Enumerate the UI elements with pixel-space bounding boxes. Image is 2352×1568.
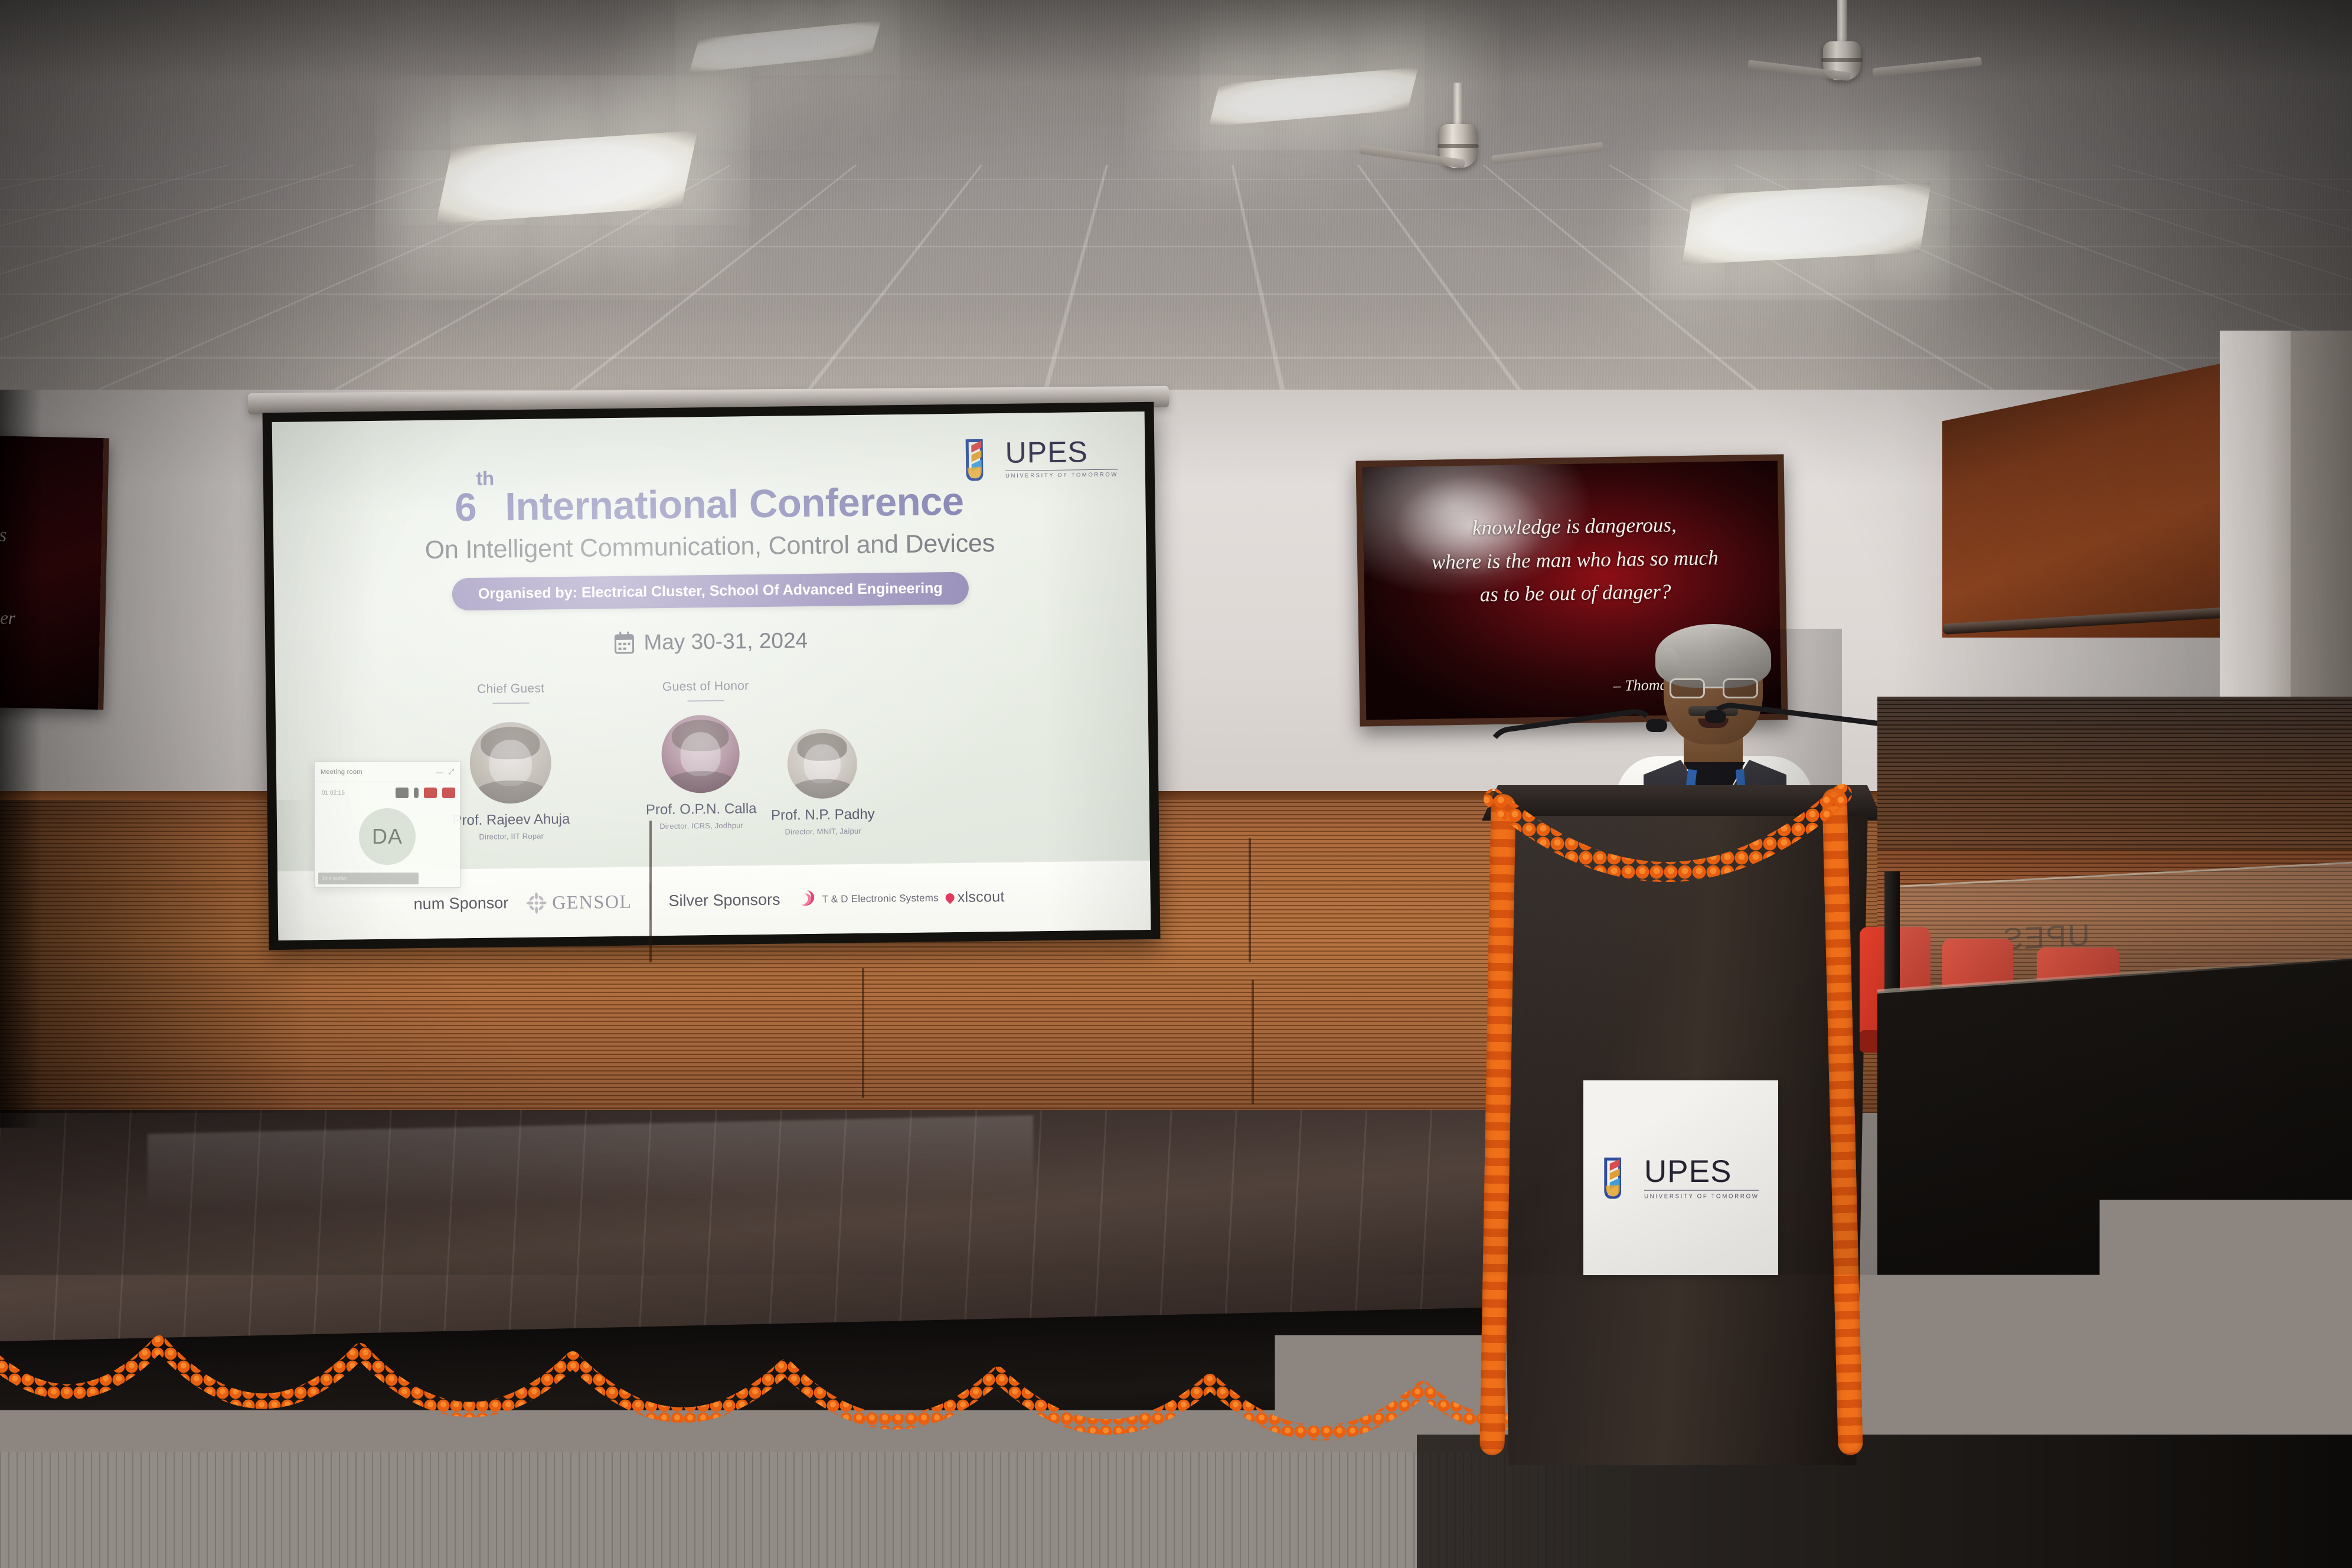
portrait-shoulders (667, 771, 736, 793)
guest-portrait (661, 714, 740, 793)
fan-ring (1821, 58, 1863, 62)
mic-capsule (1705, 710, 1726, 723)
slide-organiser-pill: Organised by: Electrical Cluster, School… (452, 572, 969, 611)
expand-icon[interactable]: ⤢ (448, 767, 454, 776)
ceiling (0, 0, 2352, 407)
share-screen-icon[interactable] (424, 788, 437, 798)
podium-garland-swag (1494, 794, 1842, 948)
avatar: DA (359, 808, 416, 865)
slide-subtitle: On Intelligent Communication, Control an… (273, 527, 1146, 567)
conference-hall-photo: thers n Fuller (0, 0, 2352, 1568)
booth-upper-wood-wall (1877, 697, 2352, 862)
guest-name: Prof. Rajeev Ahuja (443, 811, 579, 829)
upes-shield-icon (963, 438, 999, 481)
podium-logo-wordmark-block: UPES UNIVERSITY OF TOMORROW (1644, 1157, 1759, 1199)
minimize-icon[interactable]: — (436, 768, 443, 776)
portrait-face (804, 744, 841, 783)
wood-panel-seam (1249, 838, 1251, 962)
quote-text: knowledge is dangerous, where is the man… (1363, 461, 1780, 614)
slide-date-row: May 30-31, 2024 (614, 628, 808, 655)
left-wall-shadow (0, 390, 41, 1128)
slide-title: 6th International Conference (273, 476, 1146, 533)
wood-wall-left-shadow (0, 800, 307, 1113)
platinum-sponsor-label: num Sponsor (413, 894, 508, 913)
podium-logo-inner: UPES UNIVERSITY OF TOMORROW (1602, 1157, 1759, 1199)
guest-title: Director, MNIT, Jaipur (755, 826, 891, 837)
video-conference-popup[interactable]: Meeting room — ⤢ 01:02:15 DA Join audio (314, 762, 460, 888)
guest-card: Prof. N.P. Padhy Director, MNIT, Jaipur (754, 728, 891, 836)
popup-toolbar[interactable]: 01:02:15 (315, 782, 460, 803)
wood-panel-seam (649, 821, 652, 962)
fan-ring (1438, 144, 1479, 148)
portrait-face (680, 732, 721, 776)
portrait-shoulders (475, 780, 547, 804)
wood-panel-seam (862, 968, 864, 1098)
slide-title-ordinal: th (476, 468, 494, 489)
guest-title: Director, ICRS, Jodhpur (633, 820, 769, 831)
join-audio-button[interactable]: Join audio (318, 873, 419, 884)
wood-panel-seam (1252, 980, 1254, 1104)
xlscout-wordmark: xlscout (958, 888, 1005, 906)
stage-marigold-garland (0, 1334, 1576, 1505)
gensol-wordmark: GENSOL (552, 891, 632, 914)
quote-line-1: knowledge is dangerous, (1472, 513, 1677, 539)
gensol-flower-icon (526, 891, 546, 914)
platinum-sponsor-logo: GENSOL (526, 890, 632, 914)
popup-title-bar[interactable]: Meeting room — ⤢ (315, 762, 460, 782)
portrait-shoulders (792, 779, 853, 799)
fan-rod (1837, 0, 1847, 45)
guest-portrait (469, 721, 552, 804)
podium-logo-tagline: UNIVERSITY OF TOMORROW (1644, 1190, 1759, 1199)
guest-name: Prof. N.P. Padhy (755, 806, 891, 824)
mic-capsule (1646, 719, 1667, 732)
guest-title: Director, IIT Ropar (443, 831, 579, 841)
equipment-display[interactable] (2285, 1314, 2352, 1353)
fan-rod (1453, 83, 1463, 128)
slide-title-main: International Conference (494, 479, 964, 530)
silver-sponsor-label: Silver Sponsors (668, 891, 780, 910)
silver-sponsor-logos: T & D Electronic Systems xlscout (798, 886, 1005, 910)
xlscout-drop-icon (944, 891, 956, 904)
guest-portrait (787, 729, 857, 799)
microphone-icon[interactable] (414, 788, 419, 798)
td-electronic-systems-logo: T & D Electronic Systems (798, 887, 939, 910)
td-swirl-icon (798, 888, 818, 910)
guest-card: Prof. O.P.N. Calla Director, ICRS, Jodhp… (632, 714, 769, 831)
popup-window-title: Meeting room (321, 769, 362, 776)
camera-icon[interactable] (396, 788, 409, 798)
popup-titlebar-icons[interactable]: — ⤢ (436, 767, 454, 776)
end-call-icon[interactable] (442, 788, 455, 798)
podium-upes-logo-panel: UPES UNIVERSITY OF TOMORROW (1583, 1080, 1778, 1275)
equipment-power-led (2332, 1233, 2338, 1239)
control-booth: UPES (1877, 850, 2352, 1568)
portrait-face (489, 740, 532, 786)
slide-upes-logo: UPES UNIVERSITY OF TOMORROW (963, 437, 1118, 481)
td-electronic-systems-name: T & D Electronic Systems (822, 892, 938, 905)
upes-shield-icon (1602, 1157, 1638, 1198)
quote-line-3: as to be out of danger? (1479, 580, 1671, 606)
calendar-icon (614, 632, 634, 654)
quote-line-2: where is the man who has so much (1432, 546, 1719, 574)
popup-call-timer: 01:02:15 (322, 790, 345, 796)
guest-heading-chief: Chief Guest (431, 681, 590, 705)
slide-logo-wordmark: UPES (1005, 438, 1118, 468)
slide-logo-wordmark-block: UPES UNIVERSITY OF TOMORROW (1005, 438, 1118, 479)
guest-name: Prof. O.P.N. Calla (633, 801, 769, 818)
guest-heading-honor: Guest of Honor (626, 678, 785, 702)
slide-date-text: May 30-31, 2024 (643, 628, 808, 655)
xlscout-logo: xlscout (946, 888, 1005, 906)
ceiling-left-shadow (0, 0, 413, 407)
ceiling-light-panel (1682, 183, 1931, 265)
guest-card: Prof. Rajeev Ahuja Director, IIT Ropar (442, 721, 579, 841)
podium-logo-wordmark: UPES (1644, 1157, 1759, 1186)
slide-title-number: 6 (455, 485, 477, 530)
right-wall-pillar (2220, 331, 2294, 708)
